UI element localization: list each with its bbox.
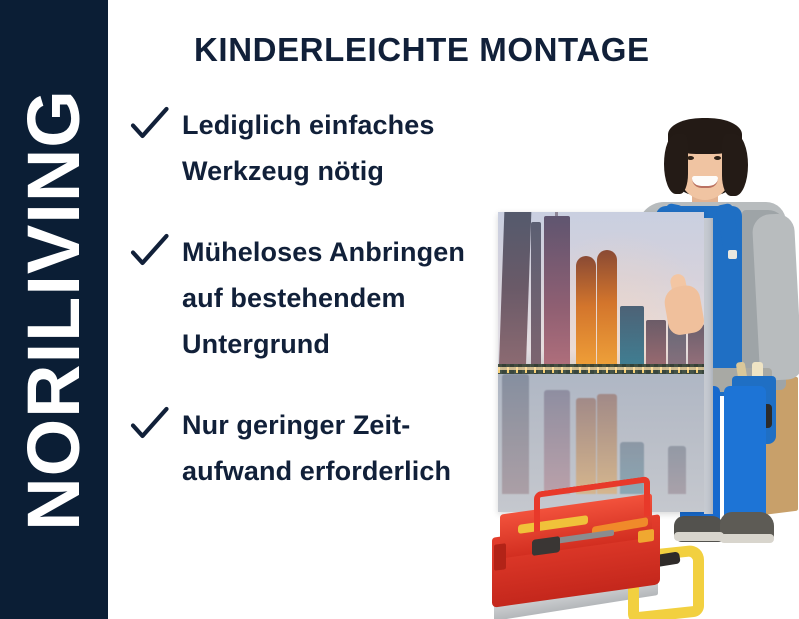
benefits-list: Lediglich einfaches Werkzeug nötig Mühel…: [120, 103, 510, 494]
canvas-print-artwork: [498, 212, 704, 512]
toolbox-latch: [494, 543, 506, 571]
installer-overall-buckle: [728, 250, 737, 259]
brand-band: NORILIVING: [0, 0, 108, 619]
artwork-reflection: [576, 398, 596, 494]
artwork-skyscraper: [597, 250, 617, 368]
content-area: KINDERLEICHTE MONTAGE Lediglich einfache…: [108, 0, 799, 619]
benefit-item: Lediglich einfaches Werkzeug nötig: [120, 103, 510, 194]
artwork-skyscraper: [576, 256, 596, 368]
installer-shoe-sole-right: [720, 534, 774, 543]
toolbox-clip: [638, 529, 654, 543]
benefit-text: Nur geringer Zeit-aufwand erforderlich: [182, 410, 451, 486]
canvas-print-edge: [704, 218, 713, 514]
page-title: KINDERLEICHTE MONTAGE: [194, 31, 650, 69]
artwork-skyscraper: [531, 222, 541, 368]
promo-banner: NORILIVING KINDERLEICHTE MONTAGE Ledigli…: [0, 0, 799, 619]
toolbox: [488, 482, 688, 606]
check-icon: [130, 233, 170, 269]
artwork-reflection: [544, 390, 570, 494]
check-icon: [130, 406, 170, 442]
artwork-reflection: [502, 374, 529, 494]
artwork-reflection: [597, 394, 617, 494]
artwork-skyscraper: [646, 320, 666, 368]
benefit-item: Müheloses Anbringen auf bestehendem Unte…: [120, 230, 510, 367]
check-icon: [130, 106, 170, 142]
artwork-water-reflection: [498, 368, 704, 494]
installer-right-arm: [752, 213, 799, 381]
benefit-text: Müheloses Anbringen auf bestehendem Unte…: [182, 237, 465, 358]
artwork-skyscraper: [544, 216, 570, 368]
installer-hair-left: [664, 134, 688, 194]
installer-eye-right: [714, 156, 721, 160]
installer-eye-left: [687, 156, 694, 160]
installer-hair-right: [722, 134, 748, 196]
installer-leg-right: [724, 386, 766, 532]
benefit-item: Nur geringer Zeit-aufwand erforderlich: [120, 403, 510, 494]
brand-wordmark: NORILIVING: [17, 89, 91, 531]
artwork-skyscraper: [620, 306, 644, 368]
product-photo: [480, 110, 799, 619]
benefit-text: Lediglich einfaches Werkzeug nötig: [182, 110, 434, 186]
